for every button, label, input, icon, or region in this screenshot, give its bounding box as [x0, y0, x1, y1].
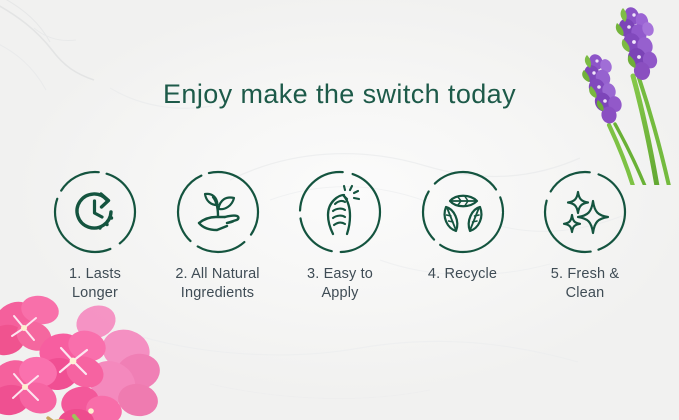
feature-item-fresh-clean: 5. Fresh & Clean	[526, 168, 644, 304]
sketch-ring-icon	[419, 168, 507, 256]
feature-list: 1. Lasts Longer 2. All Natural Ingredien	[36, 168, 644, 304]
icon-container	[174, 168, 262, 256]
icon-container	[296, 168, 384, 256]
icon-container	[51, 168, 139, 256]
promotional-banner: Enjoy make the switch today 1. Lasts Lon…	[0, 0, 679, 420]
feature-item-all-natural-ingredients: 2. All Natural Ingredients	[159, 168, 277, 304]
feature-item-easy-to-apply: 3. Easy to Apply	[281, 168, 399, 304]
feature-label: 2. All Natural Ingredients	[175, 265, 259, 304]
feature-item-lasts-longer: 1. Lasts Longer	[36, 168, 154, 304]
sketch-ring-icon	[174, 168, 262, 256]
feature-label: 3. Easy to Apply	[307, 265, 373, 304]
feature-label: 4. Recycle	[428, 265, 497, 284]
feature-label: 1. Lasts Longer	[69, 265, 121, 304]
page-title: Enjoy make the switch today	[0, 79, 679, 110]
sketch-ring-icon	[51, 168, 139, 256]
icon-container	[541, 168, 629, 256]
feature-item-recycle: 4. Recycle	[404, 168, 522, 284]
sketch-ring-icon	[296, 168, 384, 256]
marble-vein-bottom	[120, 300, 580, 420]
icon-container	[419, 168, 507, 256]
sketch-ring-icon	[541, 168, 629, 256]
feature-label: 5. Fresh & Clean	[551, 265, 619, 304]
